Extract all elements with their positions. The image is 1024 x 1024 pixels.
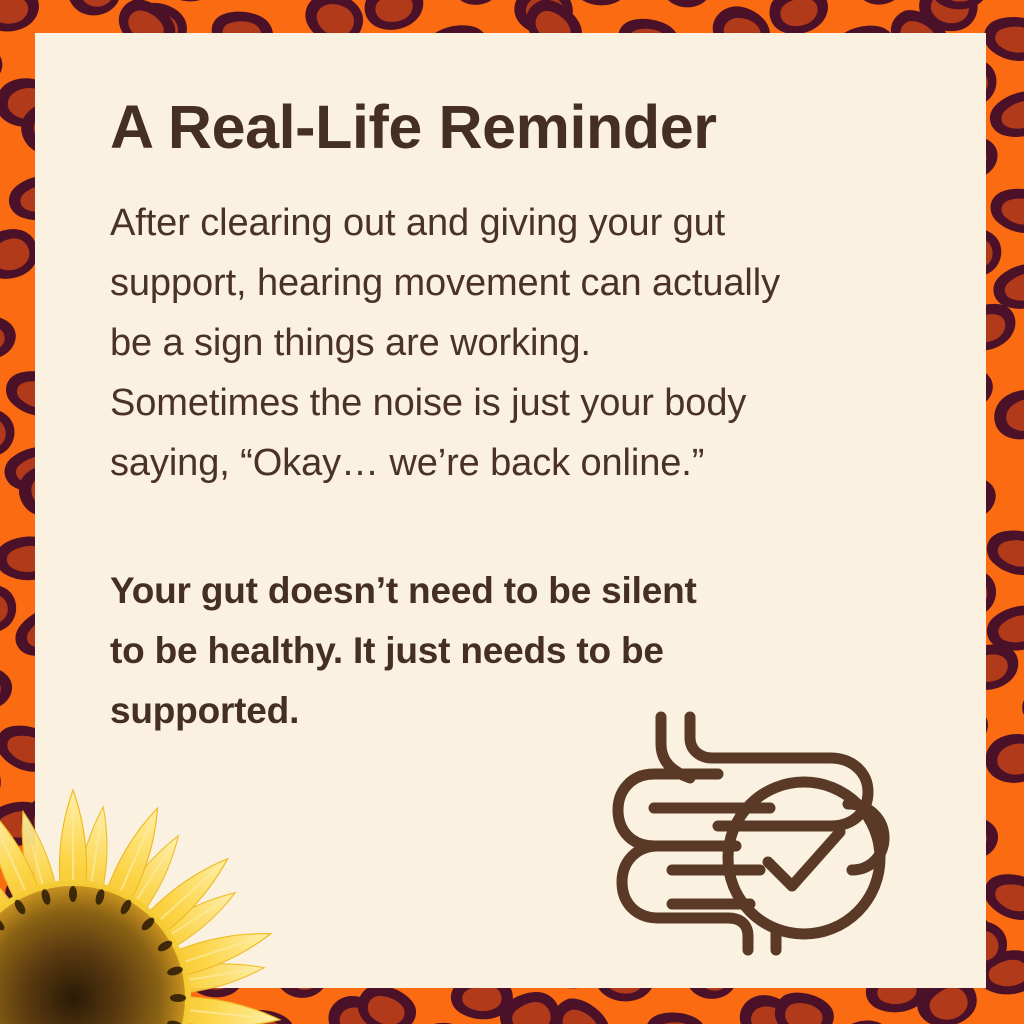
poster-content: A Real-Life Reminder After clearing out … [110, 95, 940, 741]
emphasis-line: to be healthy. It just needs to be [110, 621, 940, 681]
body-line: Sometimes the noise is just your body [110, 373, 940, 433]
emphasis-line: Your gut doesn’t need to be silent [110, 561, 940, 621]
body-line: be a sign things are working. [110, 313, 940, 373]
body-paragraph: After clearing out and giving your gut s… [110, 193, 940, 493]
poster-canvas: A Real-Life Reminder After clearing out … [0, 0, 1024, 1024]
intestine-check-icon [608, 692, 908, 964]
sunflower-decoration [0, 743, 328, 1024]
body-line: After clearing out and giving your gut [110, 193, 940, 253]
body-line: saying, “Okay… we’re back online.” [110, 433, 940, 493]
body-line: support, hearing movement can actually [110, 253, 940, 313]
page-title: A Real-Life Reminder [110, 95, 940, 159]
